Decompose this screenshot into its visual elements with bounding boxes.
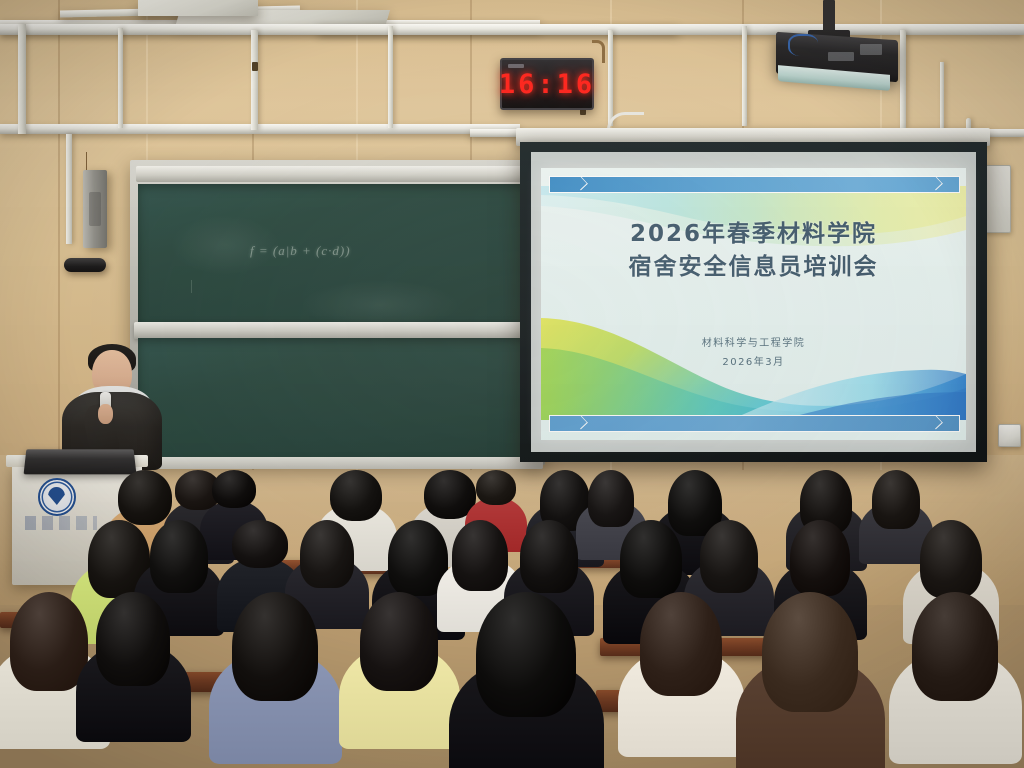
wall-trim-column — [388, 26, 393, 128]
wall-trim-beam — [0, 124, 520, 134]
wall-latch — [252, 62, 258, 71]
audience-member-head — [920, 520, 982, 598]
wall-trim-column — [608, 30, 613, 126]
blackboard-bottom-rail — [132, 457, 543, 469]
chevron-right-icon — [574, 177, 588, 191]
projector-pole — [823, 0, 835, 34]
slide-top-band — [549, 176, 960, 193]
lecture-hall-photo: 16:16 f = (a|b + (c·d)) | — [0, 0, 1024, 768]
wall-trim-beam — [0, 24, 1024, 35]
audience-member-head — [476, 592, 576, 717]
slide-title: 2026年春季材料学院 宿舍安全信息员培训会 — [541, 218, 966, 284]
wall-trim-column — [742, 26, 747, 126]
blackboard-lower-panel — [138, 338, 537, 460]
wall-trim-column — [18, 24, 26, 134]
wall-trim-column — [66, 134, 72, 244]
audience-member-head — [452, 520, 508, 591]
audience-member-head — [640, 592, 722, 696]
chevron-right-icon — [929, 416, 943, 430]
audience-member-head — [118, 470, 172, 525]
audience-member-head — [700, 520, 758, 593]
audience-member-head — [212, 470, 256, 508]
blackboard-top-rail — [136, 166, 539, 182]
blackboard-chalk-writing: f = (a|b + (c·d)) — [250, 243, 351, 259]
chevron-right-icon — [929, 177, 943, 191]
audience-member-head — [232, 520, 288, 568]
wall-speaker — [83, 170, 107, 248]
audience-member-head — [872, 470, 920, 529]
wall-trim-column — [900, 30, 906, 128]
speaker-wire — [86, 152, 87, 172]
projector-vent — [828, 52, 854, 61]
projector-vent — [860, 44, 882, 55]
ceiling-panel — [138, 0, 258, 16]
clock-time-display: 16:16 — [499, 69, 595, 100]
university-crest-icon — [38, 478, 76, 516]
audience-member-head — [476, 470, 516, 505]
slide-subtitle-line-1: 材料科学与工程学院 — [541, 334, 966, 353]
slide-title-line-1: 2026年春季材料学院 — [541, 218, 966, 251]
slide-bottom-band — [549, 415, 960, 432]
digital-clock: 16:16 — [500, 58, 594, 110]
clock-brand-mark — [508, 64, 524, 68]
podium-monitor — [24, 449, 137, 474]
audience-member-head — [588, 470, 634, 527]
audience-member-head — [762, 592, 858, 712]
podium-inscription — [25, 516, 97, 530]
wall-trim-column — [940, 62, 944, 134]
audience-member-head — [912, 592, 998, 701]
audience-member-head — [360, 592, 438, 691]
audience-member-head — [232, 592, 318, 701]
light-switch[interactable] — [998, 424, 1021, 447]
audience-member-head — [300, 520, 354, 588]
wall-mounted-sensor — [64, 258, 106, 272]
audience-member-head — [330, 470, 382, 521]
audience-member-head — [10, 592, 88, 691]
wall-panel-seam — [58, 0, 60, 470]
audience-member-head — [520, 520, 578, 593]
chevron-right-icon — [574, 416, 588, 430]
slide-subtitle: 材料科学与工程学院 2026年3月 — [541, 334, 966, 372]
audience-member-head — [620, 520, 682, 598]
slide-subtitle-line-2: 2026年3月 — [541, 353, 966, 372]
projector-cable — [788, 34, 818, 56]
presentation-slide: 2026年春季材料学院 宿舍安全信息员培训会 材料科学与工程学院 2026年3月 — [541, 168, 966, 440]
blackboard-middle-rail — [134, 322, 541, 339]
presenter-hand — [98, 404, 113, 424]
blackboard-chalk-mark: | — [190, 278, 193, 295]
audience-member-head — [790, 520, 850, 596]
wall-trim-column — [118, 28, 123, 128]
audience-member-head — [96, 592, 170, 686]
slide-title-line-2: 宿舍安全信息员培训会 — [541, 251, 966, 284]
wall-trim-column — [251, 30, 258, 130]
audience-member-head — [150, 520, 208, 593]
